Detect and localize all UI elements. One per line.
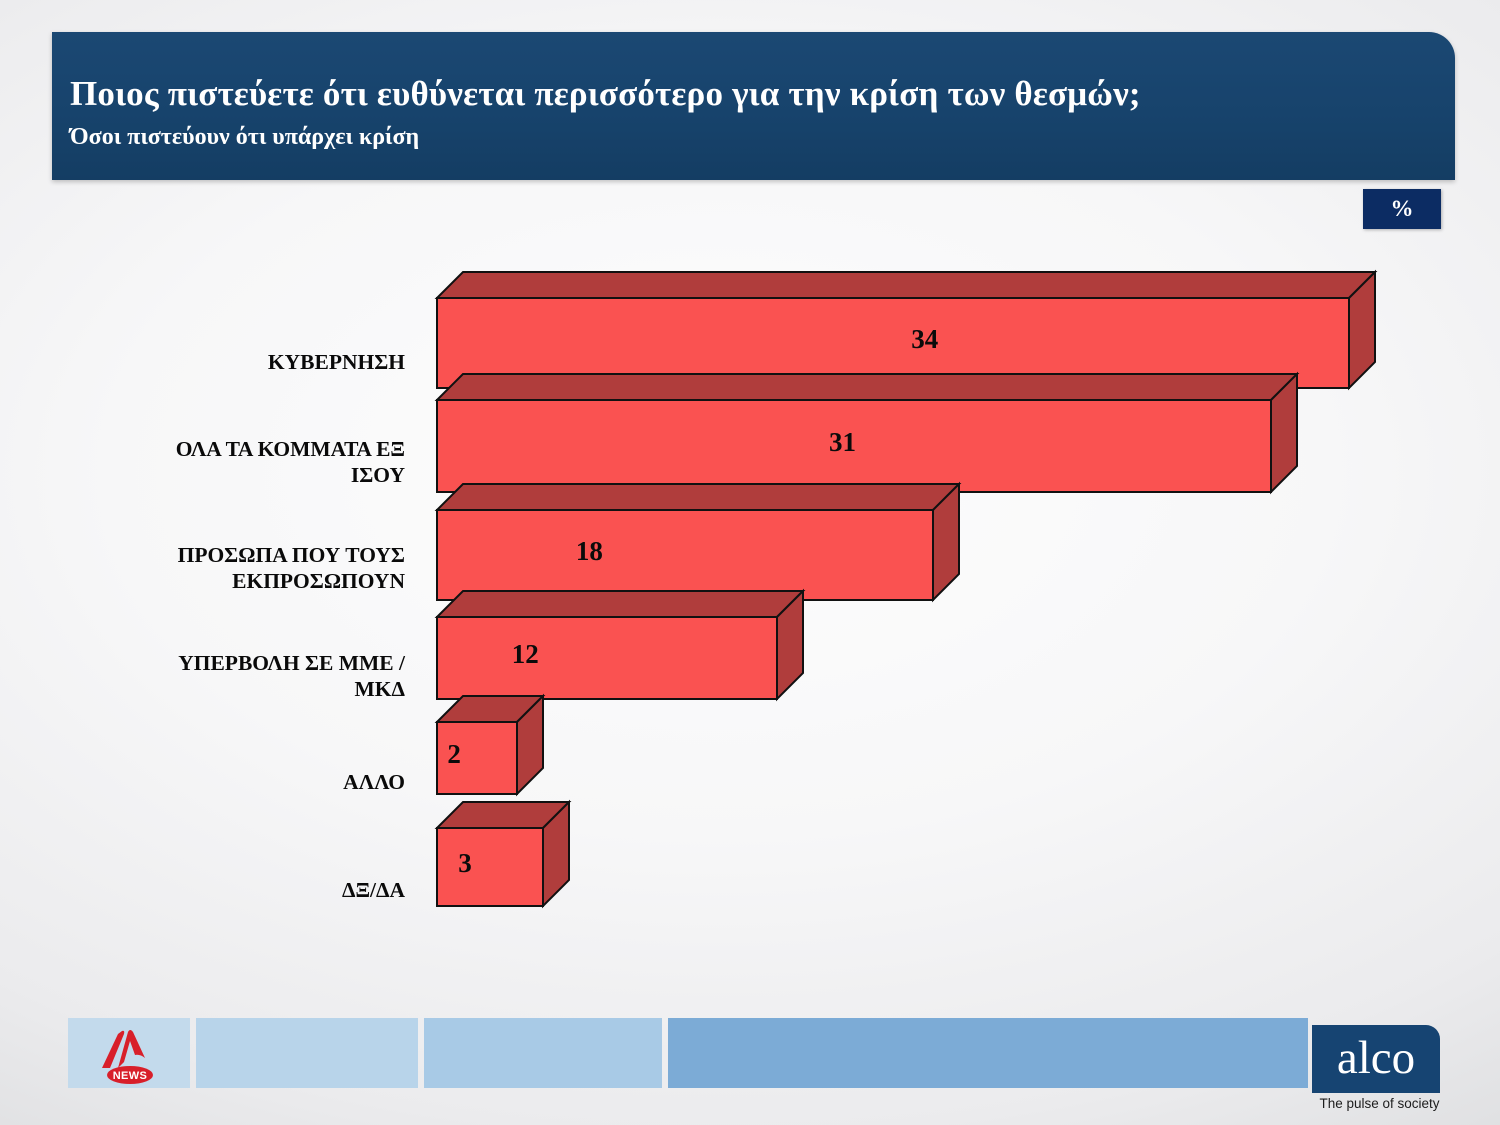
bar-top-face	[437, 484, 959, 510]
bar-front-face	[437, 400, 1271, 492]
bar-front-face	[437, 722, 517, 794]
footer-segment	[424, 1018, 662, 1088]
bar	[437, 591, 805, 701]
footer-segment	[196, 1018, 418, 1088]
alco-tagline: The pulse of society	[1312, 1096, 1447, 1111]
bar-front-face	[437, 828, 543, 906]
alco-wordmark: alco	[1337, 1035, 1415, 1082]
alco-logo: alco	[1312, 1025, 1440, 1093]
bar-front-face	[437, 510, 933, 600]
footer-segment	[668, 1018, 1308, 1088]
bar-top-face	[437, 272, 1375, 298]
bar-category-label: ΔΞ/ΔΑ	[60, 877, 405, 903]
footer: NEWS alco The pulse of society	[0, 1010, 1500, 1125]
bar-category-label: ΟΛΑ ΤΑ ΚΟΜΜΑΤΑ ΕΞΙΣΟΥ	[60, 436, 405, 488]
bar-front-face	[437, 617, 777, 699]
bar-category-label: ΑΛΛΟ	[60, 769, 405, 795]
bar-top-face	[437, 374, 1297, 400]
a-news-logo-icon: NEWS	[88, 1028, 170, 1084]
bar-category-label: ΥΠΕΡΒΟΛΗ ΣΕ ΜΜΕ /ΜΚΔ	[60, 650, 405, 702]
bar-category-label: ΚΥΒΕΡΝΗΣΗ	[60, 349, 405, 375]
bar	[437, 484, 961, 602]
bar	[437, 696, 545, 796]
bar-chart: ΚΥΒΕΡΝΗΣΗ34ΟΛΑ ΤΑ ΚΟΜΜΑΤΑ ΕΞΙΣΟΥ31ΠΡΟΣΩΠ…	[0, 0, 1500, 1125]
svg-text:NEWS: NEWS	[113, 1070, 148, 1082]
bar	[437, 272, 1377, 390]
bar	[437, 802, 571, 908]
bar-top-face	[437, 591, 803, 617]
bar-category-label: ΠΡΟΣΩΠΑ ΠΟΥ ΤΟΥΣΕΚΠΡΟΣΩΠΟΥΝ	[60, 542, 405, 594]
bar	[437, 374, 1299, 494]
slide-canvas: Ποιος πιστεύετε ότι ευθύνεται περισσότερ…	[0, 0, 1500, 1125]
